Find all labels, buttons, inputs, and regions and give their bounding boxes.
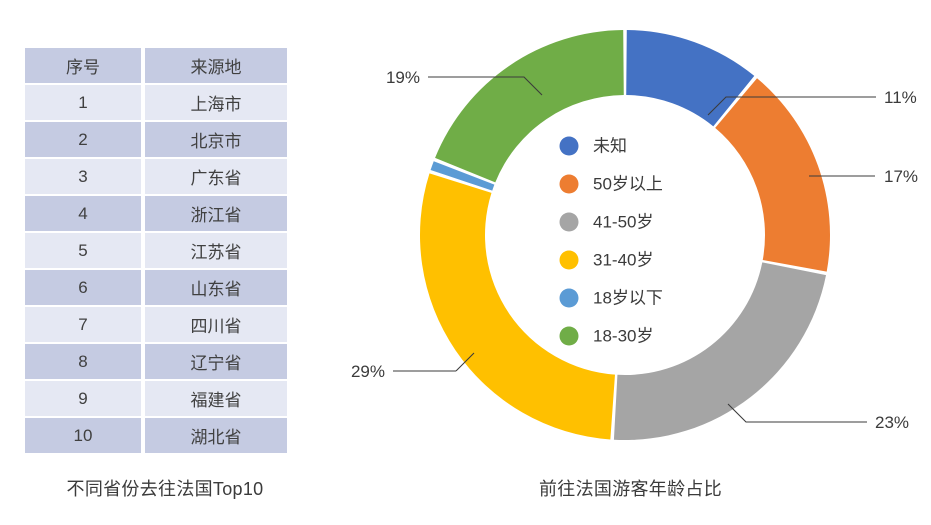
- donut-slice-4[interactable]: [420, 173, 615, 439]
- percent-label-11: 11%: [884, 88, 917, 107]
- cell-source: 四川省: [145, 307, 287, 342]
- table-row: 5江苏省: [25, 233, 287, 268]
- province-table-caption: 不同省份去往法国Top10: [0, 475, 330, 501]
- table-row: 3广东省: [25, 159, 287, 194]
- table-row: 4浙江省: [25, 196, 287, 231]
- percent-label-29: 29%: [351, 362, 385, 381]
- cell-index: 10: [25, 418, 145, 453]
- donut-chart-caption: 前往法国游客年龄占比: [330, 475, 931, 501]
- legend-label-4[interactable]: 31-40岁: [593, 250, 653, 269]
- donut-slice-2[interactable]: [715, 78, 830, 271]
- province-table-body: 1上海市2北京市3广东省4浙江省5江苏省6山东省7四川省8辽宁省9福建省10湖北…: [25, 85, 287, 453]
- donut-chart-svg: 11% 17% 23% 29% 19% 未知50岁以上41-50岁31-40岁1…: [330, 0, 931, 470]
- age-donut-chart-panel: 11% 17% 23% 29% 19% 未知50岁以上41-50岁31-40岁1…: [330, 0, 931, 525]
- leader-line-23: [728, 404, 867, 422]
- cell-source: 北京市: [145, 122, 287, 157]
- legend-marker-icon-2: [560, 175, 579, 194]
- table-row: 8辽宁省: [25, 344, 287, 379]
- cell-source: 广东省: [145, 159, 287, 194]
- legend-marker-icon-4: [560, 251, 579, 270]
- cell-index: 5: [25, 233, 145, 268]
- table-row: 2北京市: [25, 122, 287, 157]
- table-row: 6山东省: [25, 270, 287, 305]
- cell-source: 福建省: [145, 381, 287, 416]
- table-row: 10湖北省: [25, 418, 287, 453]
- cell-index: 2: [25, 122, 145, 157]
- legend-marker-icon-5: [560, 289, 579, 308]
- cell-index: 1: [25, 85, 145, 120]
- cell-source: 山东省: [145, 270, 287, 305]
- percent-label-19: 19%: [386, 68, 420, 87]
- table-header-row: 序号 来源地: [25, 48, 287, 83]
- legend-label-1[interactable]: 未知: [593, 136, 627, 155]
- province-table-head: 序号 来源地: [25, 48, 287, 83]
- cell-source: 上海市: [145, 85, 287, 120]
- chart-legend: 未知50岁以上41-50岁31-40岁18岁以下18-30岁: [560, 136, 663, 345]
- column-header-source: 来源地: [145, 48, 287, 83]
- province-table: 序号 来源地 1上海市2北京市3广东省4浙江省5江苏省6山东省7四川省8辽宁省9…: [25, 46, 287, 455]
- cell-source: 江苏省: [145, 233, 287, 268]
- cell-source: 浙江省: [145, 196, 287, 231]
- cell-index: 8: [25, 344, 145, 379]
- legend-marker-icon-6: [560, 327, 579, 346]
- column-header-index: 序号: [25, 48, 145, 83]
- legend-label-6[interactable]: 18-30岁: [593, 326, 653, 345]
- percent-label-17: 17%: [884, 167, 918, 186]
- donut-slice-group: [420, 30, 830, 440]
- cell-source: 湖北省: [145, 418, 287, 453]
- percent-label-23: 23%: [875, 413, 909, 432]
- legend-label-3[interactable]: 41-50岁: [593, 212, 653, 231]
- table-row: 7四川省: [25, 307, 287, 342]
- donut-slice-6[interactable]: [435, 30, 624, 182]
- cell-index: 3: [25, 159, 145, 194]
- legend-marker-icon-1: [560, 137, 579, 156]
- legend-label-5[interactable]: 18岁以下: [593, 288, 663, 307]
- legend-label-2[interactable]: 50岁以上: [593, 174, 663, 193]
- cell-index: 4: [25, 196, 145, 231]
- cell-index: 9: [25, 381, 145, 416]
- province-table-panel: 序号 来源地 1上海市2北京市3广东省4浙江省5江苏省6山东省7四川省8辽宁省9…: [0, 0, 330, 525]
- cell-index: 6: [25, 270, 145, 305]
- table-row: 1上海市: [25, 85, 287, 120]
- cell-index: 7: [25, 307, 145, 342]
- table-row: 9福建省: [25, 381, 287, 416]
- cell-source: 辽宁省: [145, 344, 287, 379]
- legend-marker-icon-3: [560, 213, 579, 232]
